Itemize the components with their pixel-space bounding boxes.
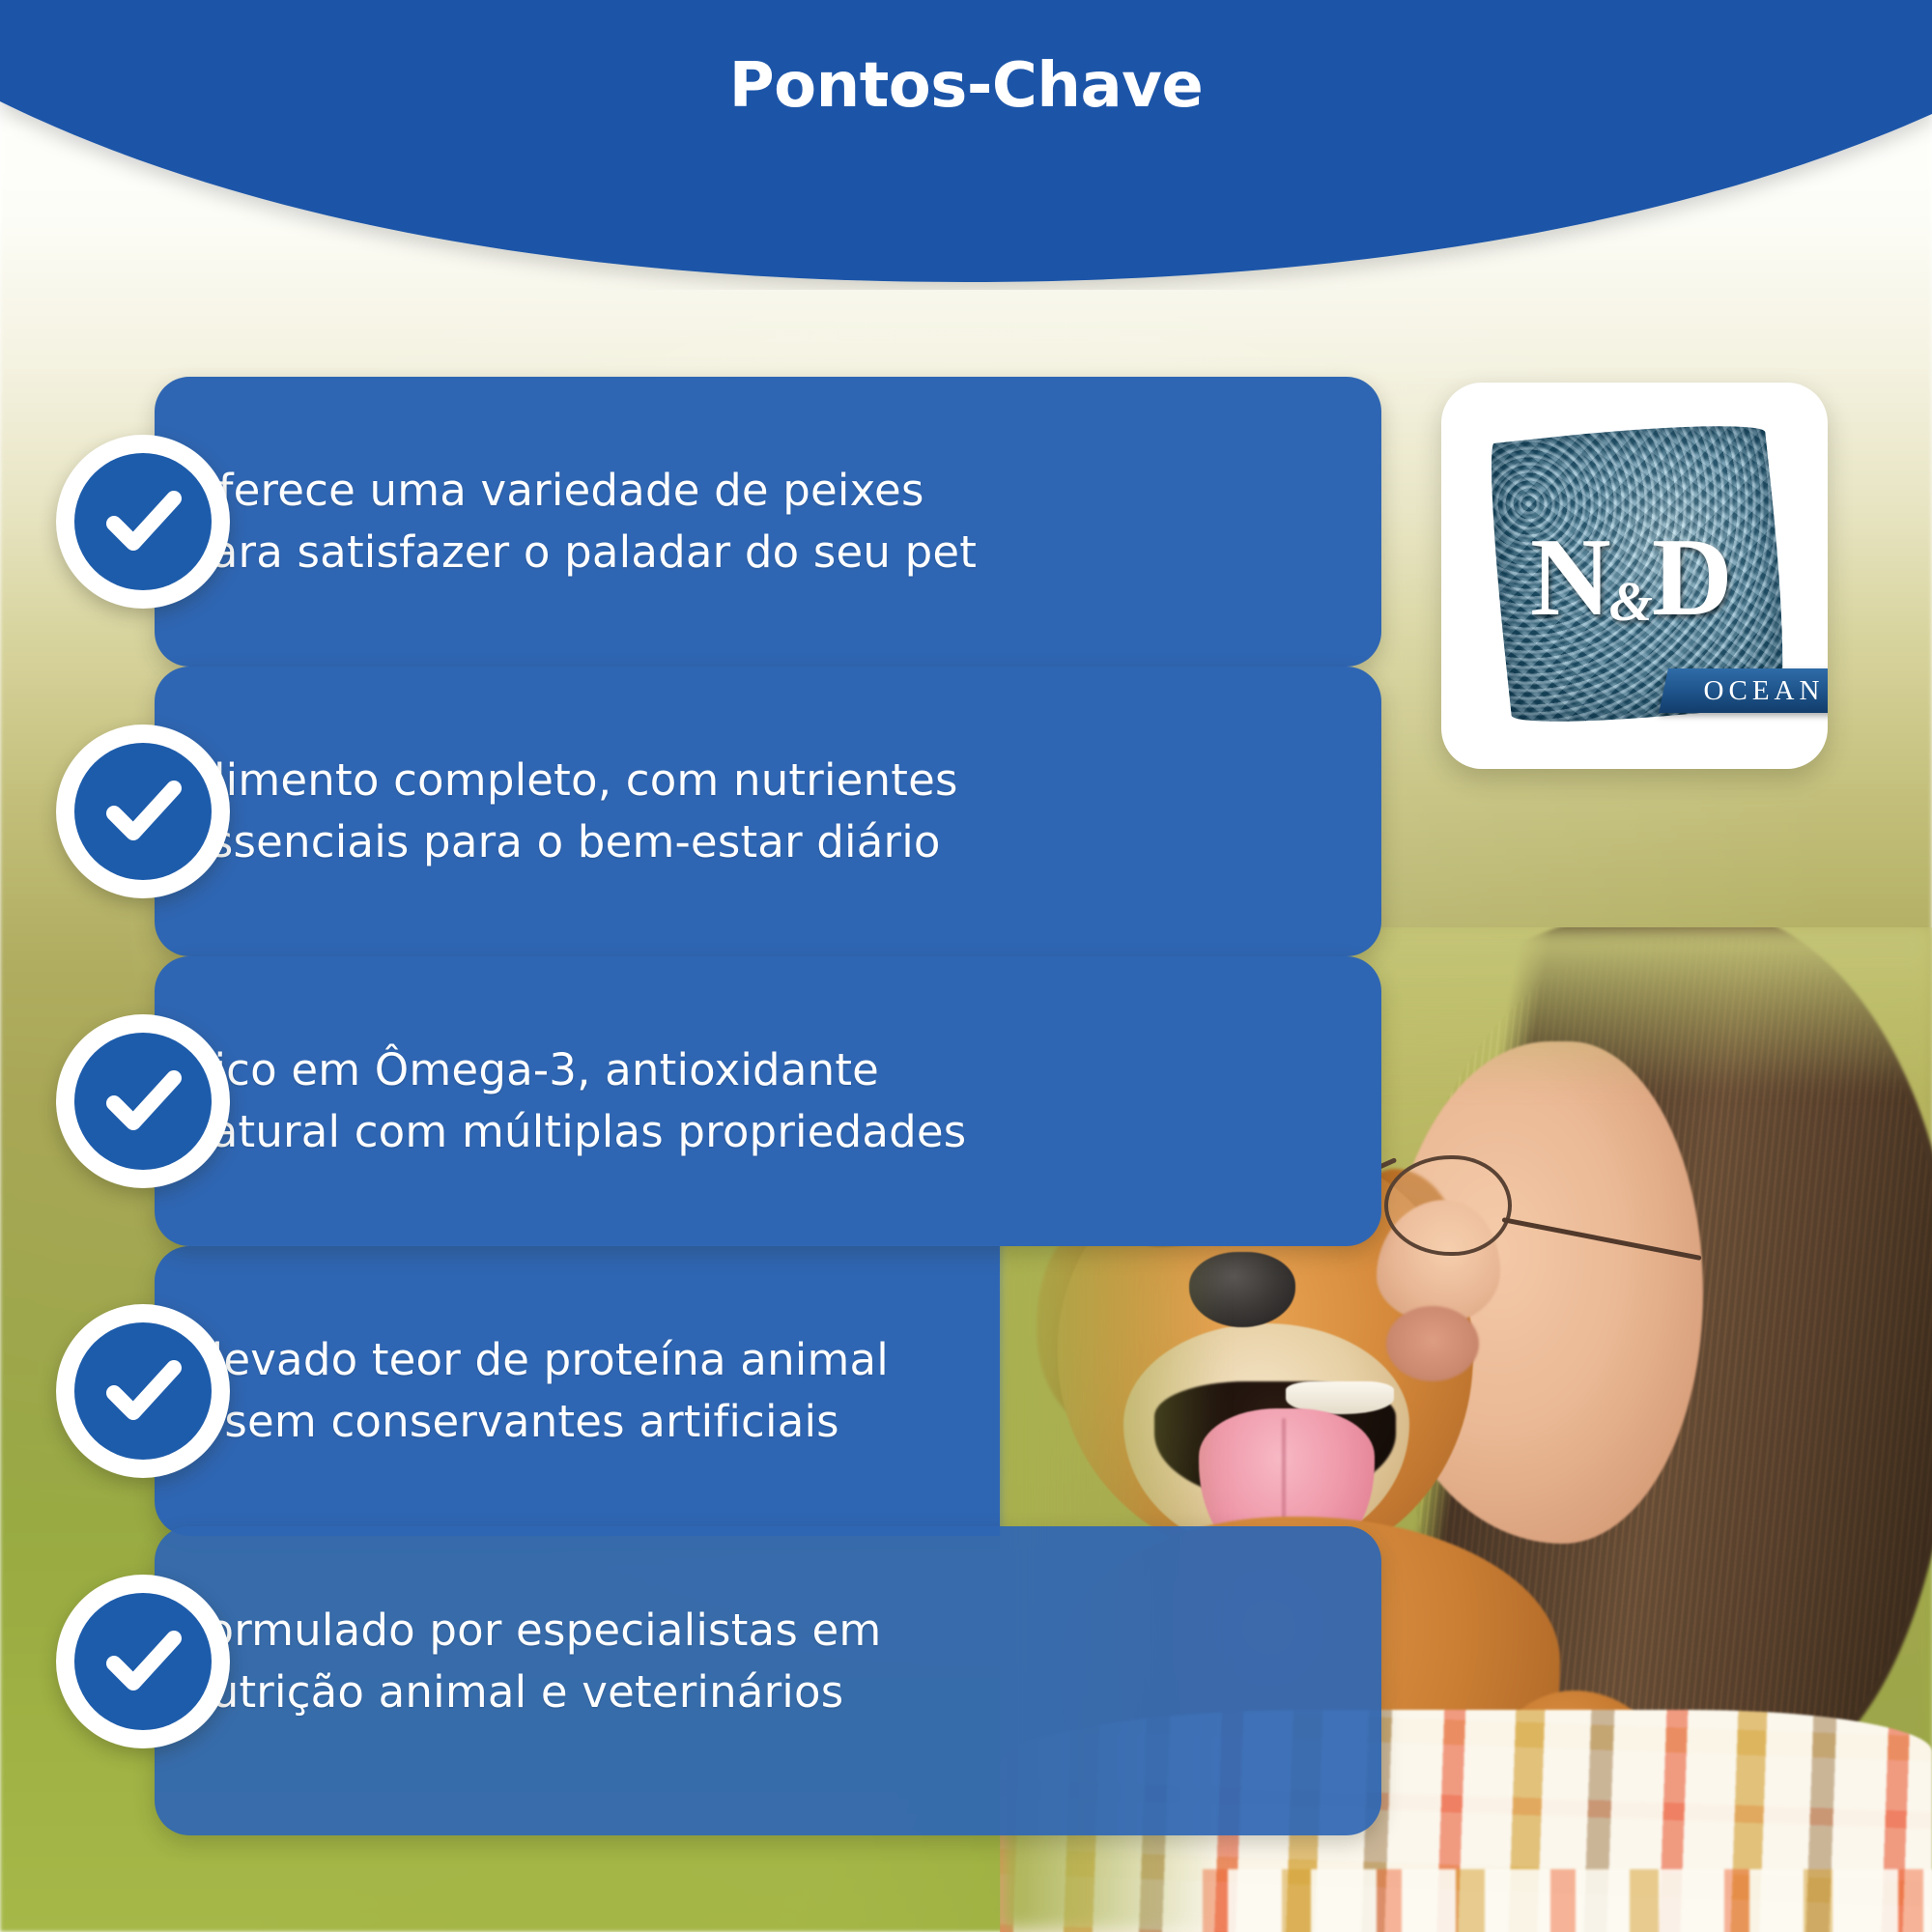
logo-ocean-banner: OCEAN (1659, 668, 1828, 713)
bullet-text-3: Rico em Ômega-3, antioxidante natural co… (184, 1039, 1169, 1163)
nd-ocean-logo-card: N&D OCEAN (1441, 383, 1828, 769)
bullet-row-2: Alimento completo, com nutrientes essenc… (0, 667, 1410, 956)
plaid-blanket-lower (1203, 1869, 1932, 1932)
logo-ocean-label: OCEAN (1663, 668, 1828, 713)
bullet-text-2: Alimento completo, com nutrientes essenc… (184, 750, 1169, 873)
bullet-row-1: Oferece uma variedade de peixes para sat… (0, 377, 1410, 667)
check-badge-2 (56, 724, 230, 898)
check-badge-3 (56, 1014, 230, 1188)
check-badge-1 (56, 435, 230, 609)
logo-ampersand: & (1609, 570, 1652, 633)
bullet-line-3b: natural com múltiplas propriedades (184, 1101, 1169, 1163)
logo-leaf-shape: N&D OCEAN (1497, 429, 1779, 719)
bullet-line-1b: para satisfazer o paladar do seu pet (184, 522, 1169, 583)
header-curved-band (0, 0, 1932, 290)
bullet-line-1a: Oferece uma variedade de peixes (184, 460, 1169, 522)
logo-brand-d: D (1652, 516, 1731, 639)
check-icon (74, 1593, 212, 1730)
check-icon (74, 1033, 212, 1170)
woman-lips (1386, 1306, 1479, 1381)
logo-brand-text: N&D (1530, 522, 1791, 667)
bullet-line-2b: essenciais para o bem-estar diário (184, 811, 1169, 873)
check-badge-5 (56, 1575, 230, 1748)
bullet-row-3: Rico em Ômega-3, antioxidante natural co… (0, 956, 1410, 1246)
check-icon (74, 1322, 212, 1460)
bullet-line-5a: Formulado por especialistas em (184, 1600, 1169, 1662)
bullet-line-2a: Alimento completo, com nutrientes (184, 750, 1169, 811)
check-badge-4 (56, 1304, 230, 1478)
page-title: Pontos-Chave (0, 50, 1932, 122)
bullet-text-5: Formulado por especialistas em nutrição … (184, 1600, 1169, 1723)
logo-brand-n: N (1530, 516, 1609, 639)
bullet-row-5: Formulado por especialistas em nutrição … (0, 1526, 1410, 1816)
bullet-line-5b: nutrição animal e veterinários (184, 1662, 1169, 1723)
check-icon (74, 743, 212, 880)
bullet-text-1: Oferece uma variedade de peixes para sat… (184, 460, 1169, 583)
bullet-line-3a: Rico em Ômega-3, antioxidante (184, 1039, 1169, 1101)
check-icon (74, 453, 212, 590)
